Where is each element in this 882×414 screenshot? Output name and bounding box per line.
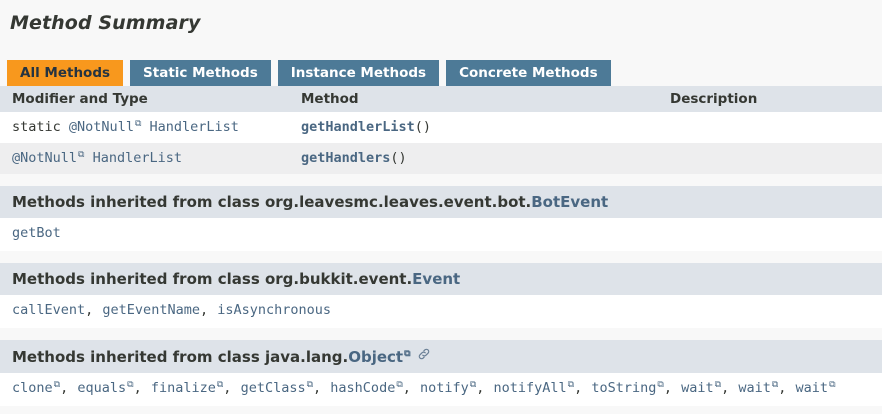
external-link-icon: ⧉ — [134, 119, 141, 129]
column-header-description: Description — [658, 86, 882, 112]
inherited-method-link-clone[interactable]: clone — [12, 380, 53, 396]
inherited-method-link-notify[interactable]: notify — [420, 380, 469, 396]
external-link-icon: ⧉ — [126, 380, 133, 390]
inherited-block-event: Methods inherited from class org.bukkit.… — [0, 263, 882, 328]
table-row: static @NotNull⧉ HandlerList getHandlerL… — [0, 112, 882, 143]
list-separator: , — [476, 380, 493, 396]
inherited-class-link-event[interactable]: Event — [412, 270, 460, 288]
external-link-icon: ⧉ — [53, 380, 60, 390]
external-link-icon: ⧉ — [567, 380, 574, 390]
inherited-method-link-finalize[interactable]: finalize — [151, 380, 216, 396]
tab-instance-methods[interactable]: Instance Methods — [278, 60, 439, 86]
cell-modifier-and-type: static @NotNull⧉ HandlerList — [0, 112, 289, 143]
external-link-icon: ⧉ — [714, 380, 721, 390]
external-link-icon: ⧉ — [828, 380, 835, 390]
cell-method: getHandlerList() — [289, 112, 658, 143]
inherited-method-link-getclass[interactable]: getClass — [241, 380, 306, 396]
cell-description — [658, 143, 882, 174]
method-parens: () — [390, 150, 406, 166]
inherited-method-link-tostring[interactable]: toString — [591, 380, 656, 396]
column-header-method: Method — [289, 86, 658, 112]
tab-static-methods[interactable]: Static Methods — [130, 60, 271, 86]
list-separator: , — [223, 380, 240, 396]
list-separator: , — [313, 380, 330, 396]
inherited-prefix: Methods inherited from class java.lang. — [12, 348, 348, 366]
inherited-header-object: Methods inherited from class java.lang.O… — [0, 340, 882, 373]
list-separator: , — [664, 380, 681, 396]
inherited-method-link-getbot[interactable]: getBot — [12, 225, 61, 241]
inherited-methods-object: clone⧉, equals⧉, finalize⧉, getClass⧉, h… — [0, 373, 882, 406]
inherited-method-link-wait-2[interactable]: wait — [738, 380, 771, 396]
inherited-prefix: Methods inherited from class org.leavesm… — [12, 193, 531, 211]
inherited-header-botevent: Methods inherited from class org.leavesm… — [0, 186, 882, 218]
list-separator: , — [60, 380, 77, 396]
inherited-methods-event: callEvent, getEventName, isAsynchronous — [0, 295, 882, 328]
inherited-class-link-object[interactable]: Object — [348, 348, 403, 366]
method-link-gethandlers[interactable]: getHandlers — [301, 150, 390, 166]
external-link-icon: ⧉ — [77, 150, 84, 160]
modifier-keyword: static — [12, 119, 61, 135]
inherited-block-object: Methods inherited from class java.lang.O… — [0, 340, 882, 406]
inherited-method-link-notifyall[interactable]: notifyAll — [494, 380, 567, 396]
inherited-method-link-callevent[interactable]: callEvent — [12, 302, 85, 318]
tab-all-methods[interactable]: All Methods — [7, 60, 123, 86]
external-link-icon: ⧉ — [656, 380, 663, 390]
list-separator: , — [200, 302, 217, 318]
inherited-method-link-hashcode[interactable]: hashCode — [330, 380, 395, 396]
inherited-class-link-botevent[interactable]: BotEvent — [531, 193, 608, 211]
list-separator: , — [85, 302, 102, 318]
method-summary-table: Modifier and Type Method Description sta… — [0, 86, 882, 174]
inherited-block-botevent: Methods inherited from class org.leavesm… — [0, 186, 882, 251]
list-separator: , — [574, 380, 591, 396]
table-header-row: Modifier and Type Method Description — [0, 86, 882, 112]
type-annotation-link[interactable]: @NotNull — [69, 119, 134, 135]
type-name: HandlerList — [150, 119, 239, 135]
tab-concrete-methods[interactable]: Concrete Methods — [446, 60, 611, 86]
method-filter-tab-bar: All Methods Static Methods Instance Meth… — [0, 60, 882, 86]
cell-description — [658, 112, 882, 143]
list-separator: , — [403, 380, 420, 396]
external-link-icon: ⧉ — [306, 380, 313, 390]
inherited-method-link-wait-3[interactable]: wait — [796, 380, 829, 396]
method-parens: () — [415, 119, 431, 135]
cell-modifier-and-type: @NotNull⧉ HandlerList — [0, 143, 289, 174]
table-row: @NotNull⧉ HandlerList getHandlers() — [0, 143, 882, 174]
page-title: Method Summary — [0, 0, 882, 34]
method-link-gethandlerlist[interactable]: getHandlerList — [301, 119, 415, 135]
anchor-link-icon[interactable] — [417, 347, 431, 365]
method-summary-page: Method Summary All Methods Static Method… — [0, 0, 882, 414]
section-gap — [0, 328, 882, 340]
list-separator: , — [721, 380, 738, 396]
type-name: HandlerList — [93, 150, 182, 166]
inherited-method-link-wait-1[interactable]: wait — [681, 380, 714, 396]
list-separator: , — [134, 380, 151, 396]
cell-method: getHandlers() — [289, 143, 658, 174]
section-gap — [0, 251, 882, 263]
inherited-prefix: Methods inherited from class org.bukkit.… — [12, 270, 412, 288]
inherited-method-link-geteventname[interactable]: getEventName — [102, 302, 200, 318]
inherited-header-event: Methods inherited from class org.bukkit.… — [0, 263, 882, 295]
inherited-method-link-equals[interactable]: equals — [77, 380, 126, 396]
external-link-icon: ⧉ — [403, 349, 410, 359]
inherited-methods-botevent: getBot — [0, 218, 882, 251]
type-annotation-link[interactable]: @NotNull — [12, 150, 77, 166]
column-header-modifier-and-type: Modifier and Type — [0, 86, 289, 112]
section-gap — [0, 174, 882, 186]
list-separator: , — [778, 380, 795, 396]
inherited-method-link-isasynchronous[interactable]: isAsynchronous — [217, 302, 331, 318]
external-link-icon: ⧉ — [395, 380, 402, 390]
